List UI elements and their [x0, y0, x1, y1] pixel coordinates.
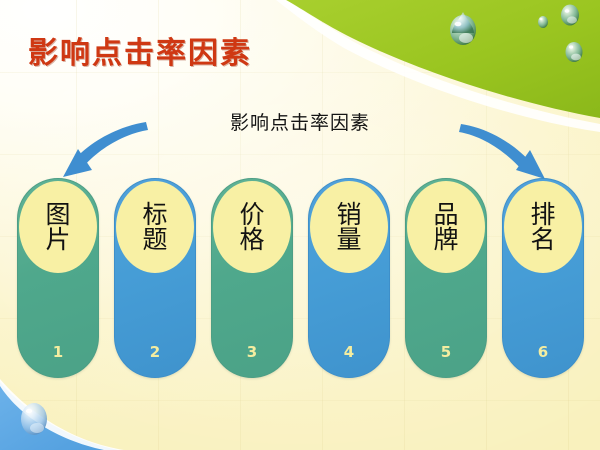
capsule-label-3: 价格	[237, 202, 267, 253]
capsule-number-4: 4	[309, 343, 389, 361]
capsule-bubble-4: 销量	[310, 181, 388, 273]
capsule-number-2: 2	[115, 343, 195, 361]
capsule-label-6: 排名	[528, 202, 558, 253]
capsule-row: 图片 1 标题 2 价格 3 销量 4 品牌 5	[0, 0, 600, 450]
capsule-number-6: 6	[503, 343, 583, 361]
capsule-bubble-3: 价格	[213, 181, 291, 273]
capsule-item-1[interactable]: 图片 1	[17, 178, 99, 378]
capsule-item-6[interactable]: 排名 6	[502, 178, 584, 378]
slide-canvas: 影响点击率因素 影响点击率因素 图片 1 标题 2 价格 3 销量 4	[0, 0, 600, 450]
capsule-bubble-2: 标题	[116, 181, 194, 273]
capsule-item-3[interactable]: 价格 3	[211, 178, 293, 378]
capsule-item-4[interactable]: 销量 4	[308, 178, 390, 378]
capsule-bubble-6: 排名	[504, 181, 582, 273]
capsule-item-2[interactable]: 标题 2	[114, 178, 196, 378]
capsule-item-5[interactable]: 品牌 5	[405, 178, 487, 378]
capsule-bubble-5: 品牌	[407, 181, 485, 273]
capsule-bubble-1: 图片	[19, 181, 97, 273]
capsule-label-2: 标题	[140, 202, 170, 253]
capsule-label-4: 销量	[334, 202, 364, 253]
capsule-label-1: 图片	[43, 202, 73, 253]
capsule-number-1: 1	[18, 343, 98, 361]
capsule-number-3: 3	[212, 343, 292, 361]
capsule-number-5: 5	[406, 343, 486, 361]
capsule-label-5: 品牌	[431, 202, 461, 253]
